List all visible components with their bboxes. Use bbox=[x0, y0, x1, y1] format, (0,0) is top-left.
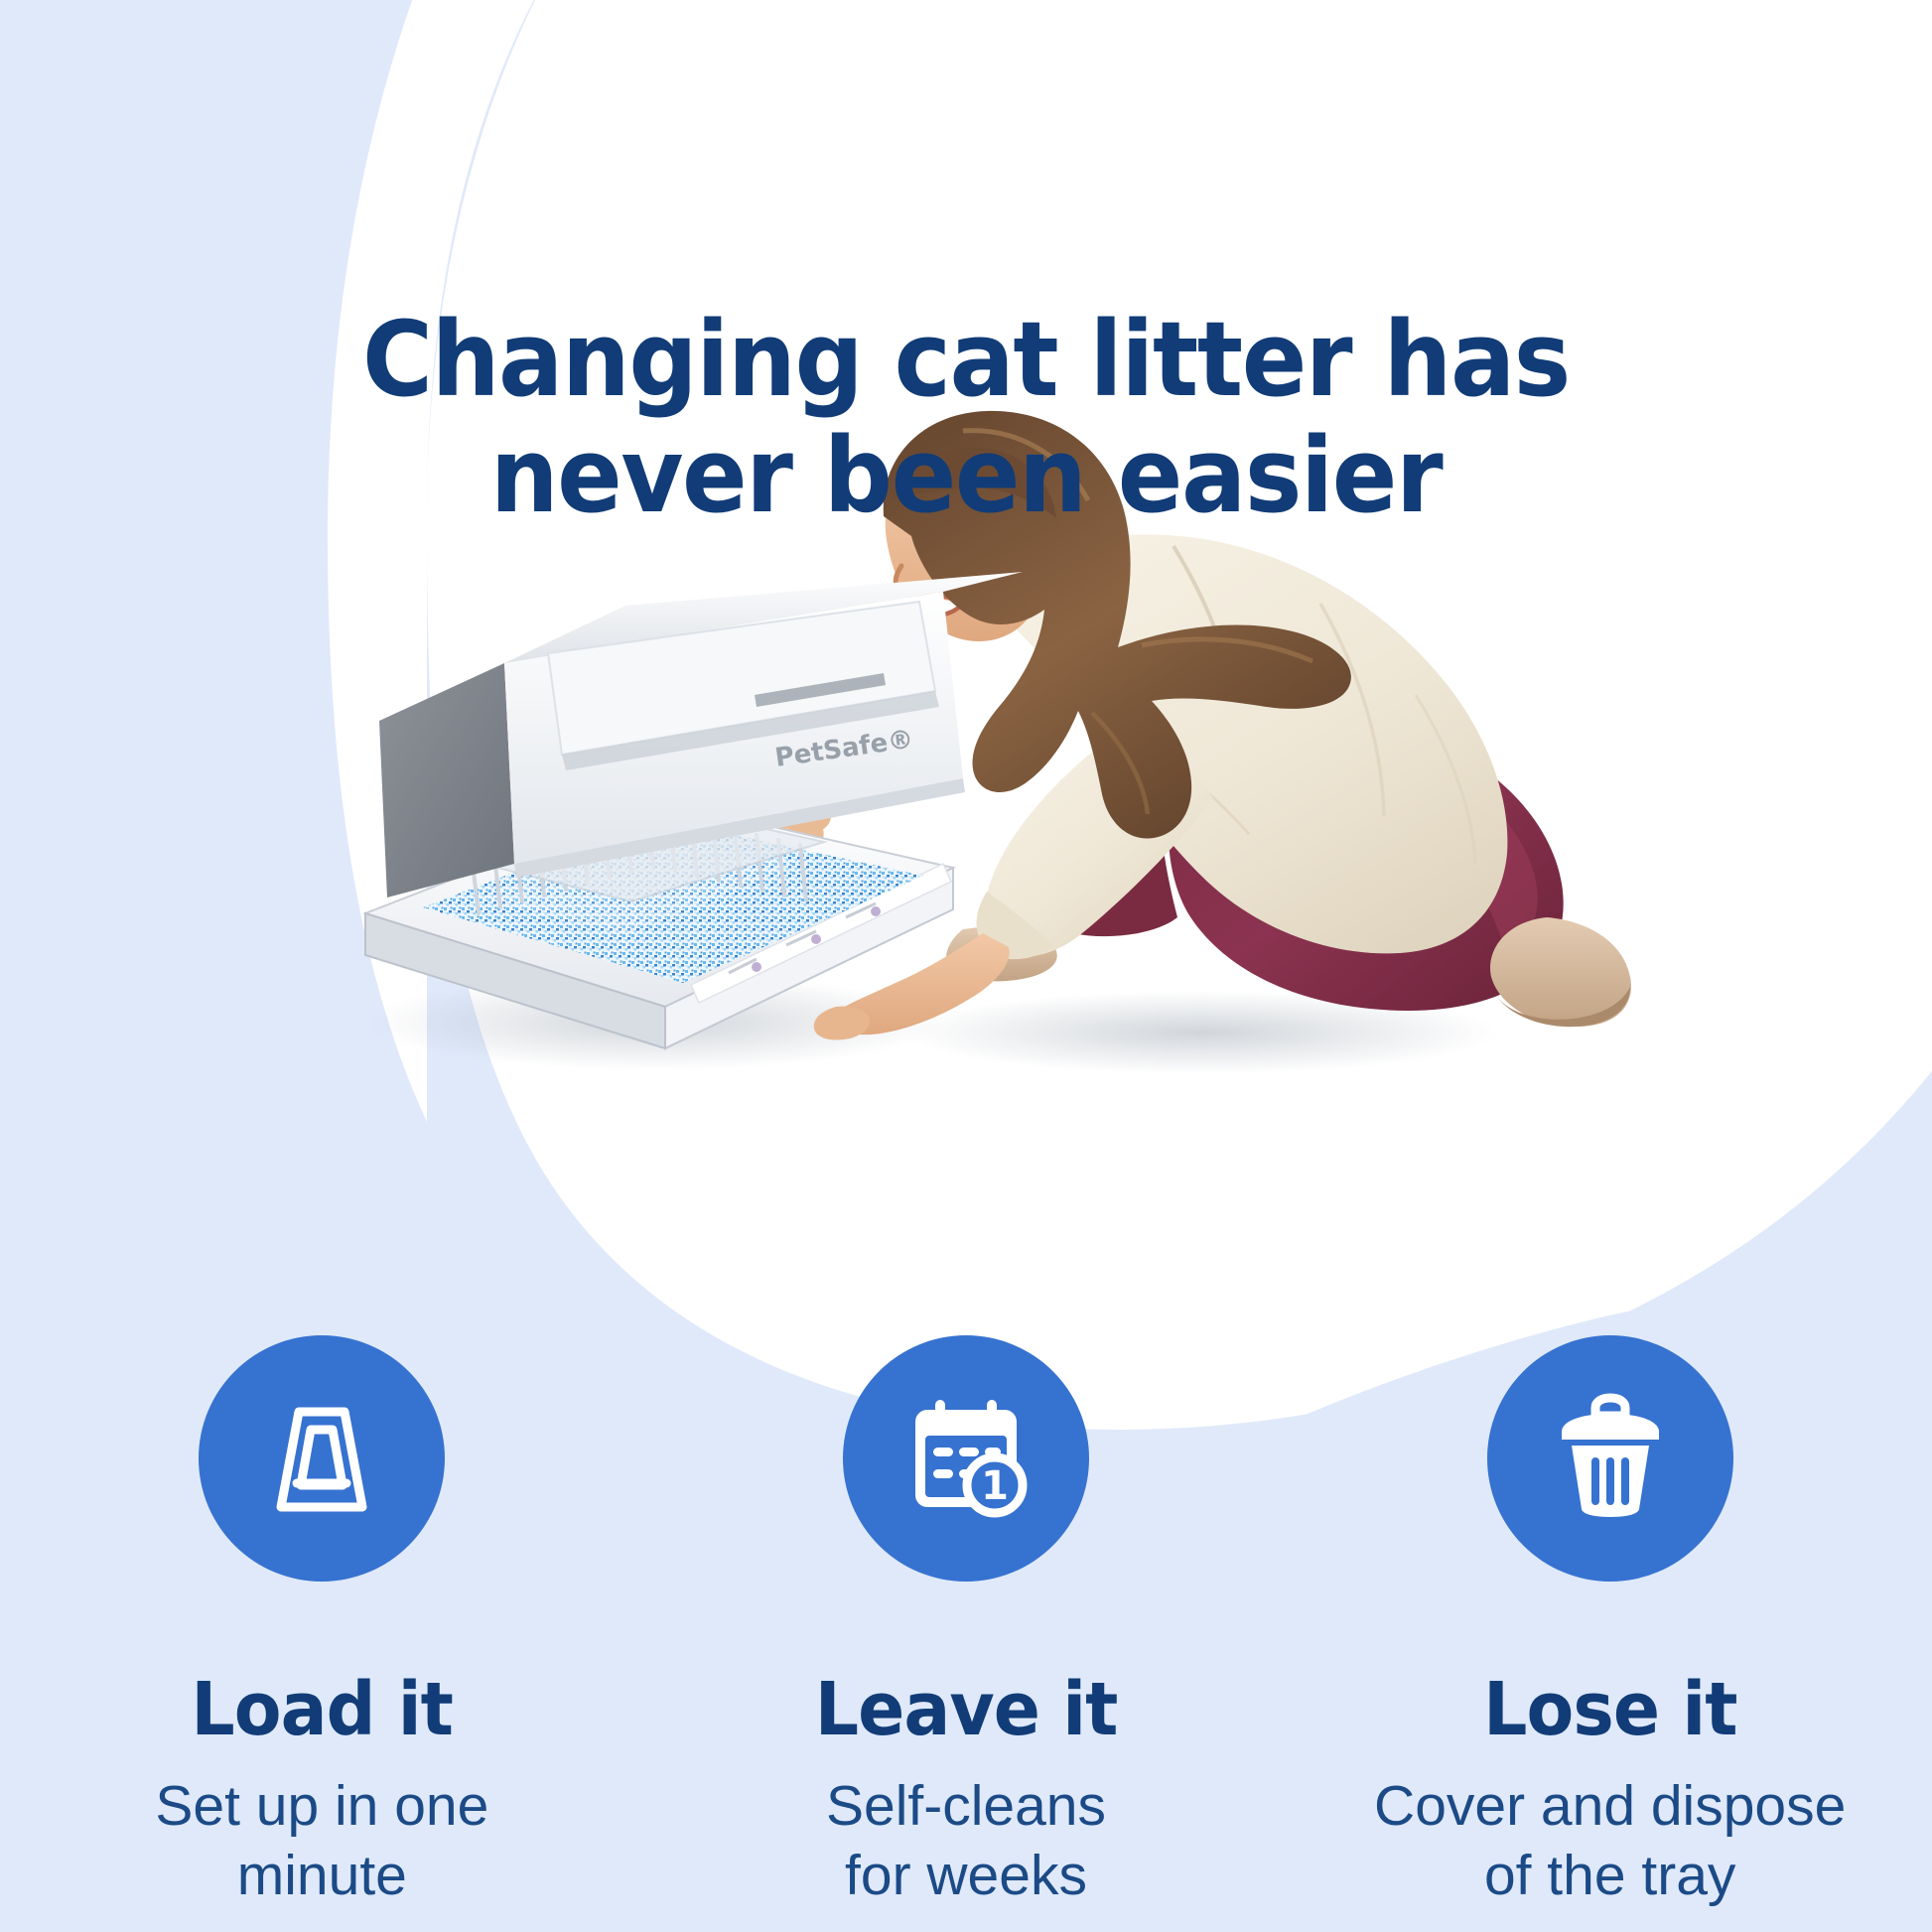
feature-row: Load it Set up in one minute bbox=[0, 1335, 1932, 1910]
feature-subtitle-2: Self-cleans for weeks bbox=[826, 1772, 1106, 1910]
feature-subtitle-3: Cover and dispose of the tray bbox=[1374, 1772, 1846, 1910]
trash-can-icon bbox=[1536, 1384, 1685, 1533]
feature-lose-it[interactable]: Lose it Cover and dispose of the tray bbox=[1288, 1335, 1932, 1910]
hood-side-panel bbox=[379, 663, 514, 897]
page-title: Changing cat litter has never been easie… bbox=[68, 187, 1864, 649]
litter-tray-icon bbox=[247, 1384, 396, 1533]
headline-line-1: Changing cat litter has bbox=[362, 299, 1570, 420]
feature-title-3: Lose it bbox=[1483, 1673, 1736, 1746]
feature-icon-circle-3 bbox=[1487, 1335, 1733, 1582]
feature-icon-circle-2: 1 bbox=[843, 1335, 1089, 1582]
infographic-canvas: Changing cat litter has never been easie… bbox=[0, 0, 1932, 1932]
calendar-badge-number: 1 bbox=[981, 1463, 1009, 1509]
feature-icon-circle-1 bbox=[199, 1335, 445, 1582]
feature-load-it[interactable]: Load it Set up in one minute bbox=[0, 1335, 644, 1910]
headline-line-2: never been easier bbox=[68, 418, 1864, 533]
feature-title-2: Leave it bbox=[815, 1673, 1118, 1746]
feature-title-1: Load it bbox=[192, 1673, 454, 1746]
calendar-one-icon: 1 bbox=[892, 1384, 1040, 1533]
feature-subtitle-1: Set up in one minute bbox=[155, 1772, 488, 1910]
feature-leave-it[interactable]: 1 Leave it Self-cleans for weeks bbox=[644, 1335, 1289, 1910]
